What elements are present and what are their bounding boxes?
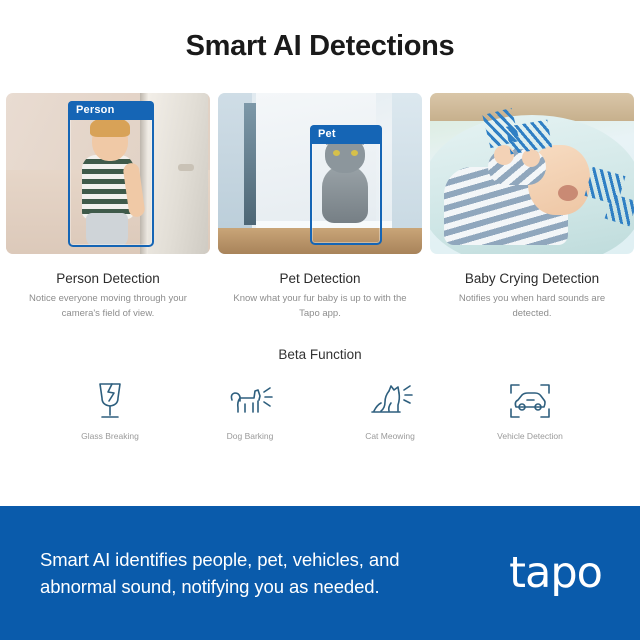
detection-cards-row: Person Person Detection Notice everyone … xyxy=(0,93,640,321)
baby-crying-photo xyxy=(430,93,634,254)
door-panel xyxy=(146,93,208,254)
cat-meowing-icon xyxy=(367,380,413,422)
beta-label: Dog Barking xyxy=(227,431,274,441)
footer-tagline: Smart AI identifies people, pet, vehicle… xyxy=(40,546,399,601)
beta-item-cat-meowing[interactable]: Cat Meowing xyxy=(341,380,439,441)
card-description: Know what your fur baby is up to with th… xyxy=(218,292,422,321)
detection-card-person[interactable]: Person Person Detection Notice everyone … xyxy=(6,93,210,321)
pet-detection-photo: Pet xyxy=(218,93,422,254)
tapo-logo: tapo xyxy=(509,552,602,595)
baby-open-mouth xyxy=(558,185,578,201)
footer-banner: Smart AI identifies people, pet, vehicle… xyxy=(0,506,640,640)
detection-box-label: Pet xyxy=(310,125,382,144)
dark-door-gap xyxy=(244,103,256,225)
card-description: Notice everyone moving through your came… xyxy=(6,292,210,321)
detection-card-baby-crying[interactable]: Baby Crying Detection Notifies you when … xyxy=(430,93,634,321)
beta-item-glass-breaking[interactable]: Glass Breaking xyxy=(61,380,159,441)
detection-box-label: Person xyxy=(68,101,154,120)
beta-item-vehicle-detection[interactable]: Vehicle Detection xyxy=(481,380,579,441)
card-description: Notifies you when hard sounds are detect… xyxy=(430,292,634,321)
beta-label: Cat Meowing xyxy=(365,431,415,441)
page-title: Smart AI Detections xyxy=(0,0,640,63)
beta-item-dog-barking[interactable]: Dog Barking xyxy=(201,380,299,441)
detection-bounding-box: Person xyxy=(68,101,154,247)
beta-label: Vehicle Detection xyxy=(497,431,563,441)
card-title: Pet Detection xyxy=(218,271,422,286)
card-title: Person Detection xyxy=(6,271,210,286)
detection-card-pet[interactable]: Pet Pet Detection Know what your fur bab… xyxy=(218,93,422,321)
door-handle xyxy=(178,164,194,171)
beta-function-row: Glass Breaking Dog Barking xyxy=(0,380,640,441)
broken-glass-icon xyxy=(93,380,127,422)
beta-label: Glass Breaking xyxy=(81,431,139,441)
detection-bounding-box: Pet xyxy=(310,125,382,245)
footer-tagline-line-1: Smart AI identifies people, pet, vehicle… xyxy=(40,546,399,573)
footer-tagline-line-2: abnormal sound, notifying you as needed. xyxy=(40,573,399,600)
dog-barking-icon xyxy=(227,380,273,422)
person-detection-photo: Person xyxy=(6,93,210,254)
vehicle-focus-icon xyxy=(508,380,552,422)
beta-function-heading: Beta Function xyxy=(0,347,640,362)
card-title: Baby Crying Detection xyxy=(430,271,634,286)
